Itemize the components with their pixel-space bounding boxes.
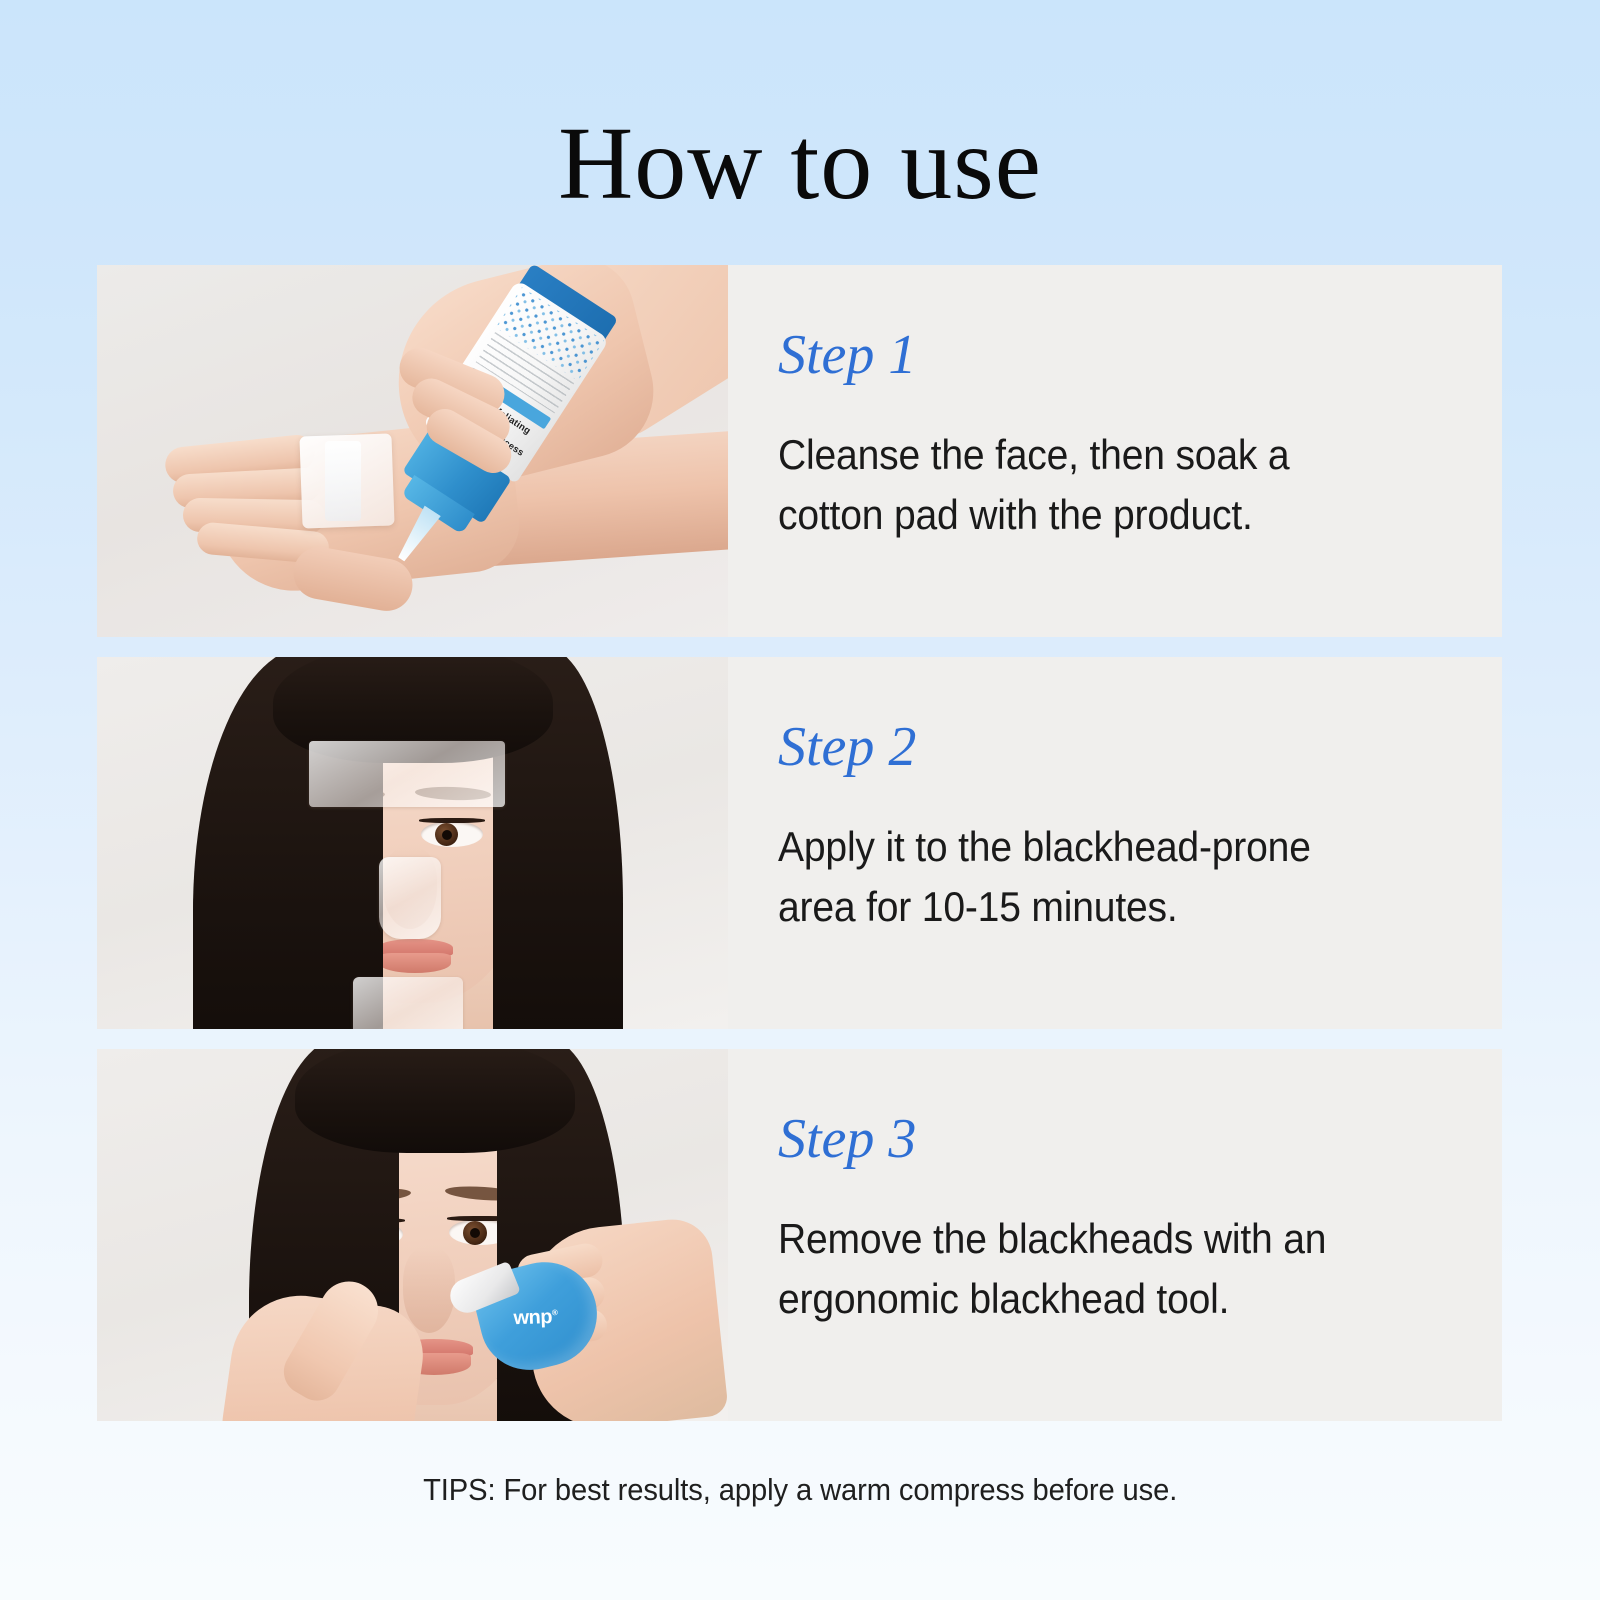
lashline-right	[419, 818, 485, 823]
step-3-label: Step 3	[778, 1111, 1502, 1167]
model-using-tool-illustration: wnp®	[97, 1049, 728, 1421]
step-row-1: Gentry Exfoliating And Blackheads Excess…	[97, 265, 1502, 637]
step-3-description: Remove the blackheads with an ergonomic …	[778, 1209, 1392, 1328]
step-1-description: Cleanse the face, then soak a cotton pad…	[778, 425, 1392, 544]
step-3-text-panel: Step 3 Remove the blackheads with an erg…	[728, 1049, 1502, 1421]
hair-top	[295, 1049, 575, 1153]
tool-brand-text: wnp	[513, 1306, 552, 1329]
pupil-right	[442, 830, 452, 840]
lower-lip	[379, 953, 451, 973]
tool-trademark-symbol: ®	[552, 1308, 558, 1317]
step-2-text-panel: Step 2 Apply it to the blackhead-prone a…	[728, 657, 1502, 1029]
hand-pouring-product-illustration: Gentry Exfoliating And Blackheads Excess…	[97, 265, 728, 637]
step-2-label: Step 2	[778, 719, 1502, 775]
mask-patch-chin	[353, 977, 463, 1029]
tips-footer: TIPS: For best results, apply a warm com…	[0, 1472, 1600, 1508]
how-to-use-infographic: How to use	[0, 0, 1600, 1600]
steps-list: Gentry Exfoliating And Blackheads Excess…	[97, 265, 1502, 1441]
pupil-right	[470, 1228, 480, 1238]
page-title: How to use	[0, 108, 1600, 220]
step-3-photo: wnp®	[97, 1049, 728, 1421]
model-with-mask-illustration	[97, 657, 728, 1029]
step-1-text-panel: Step 1 Cleanse the face, then soak a cot…	[728, 265, 1502, 637]
mask-patch-forehead	[309, 741, 505, 807]
tips-text: TIPS: For best results, apply a warm com…	[423, 1472, 1177, 1508]
step-row-2: Step 2 Apply it to the blackhead-prone a…	[97, 657, 1502, 1029]
step-2-description: Apply it to the blackhead-prone area for…	[778, 817, 1392, 936]
step-2-photo	[97, 657, 728, 1029]
mask-patch-nose	[379, 857, 441, 939]
step-1-photo: Gentry Exfoliating And Blackheads Excess…	[97, 265, 728, 637]
step-1-label: Step 1	[778, 327, 1502, 383]
tool-brand-logo: wnp®	[513, 1306, 558, 1331]
step-row-3: wnp® Step 3 Remove the blackheads with a…	[97, 1049, 1502, 1421]
